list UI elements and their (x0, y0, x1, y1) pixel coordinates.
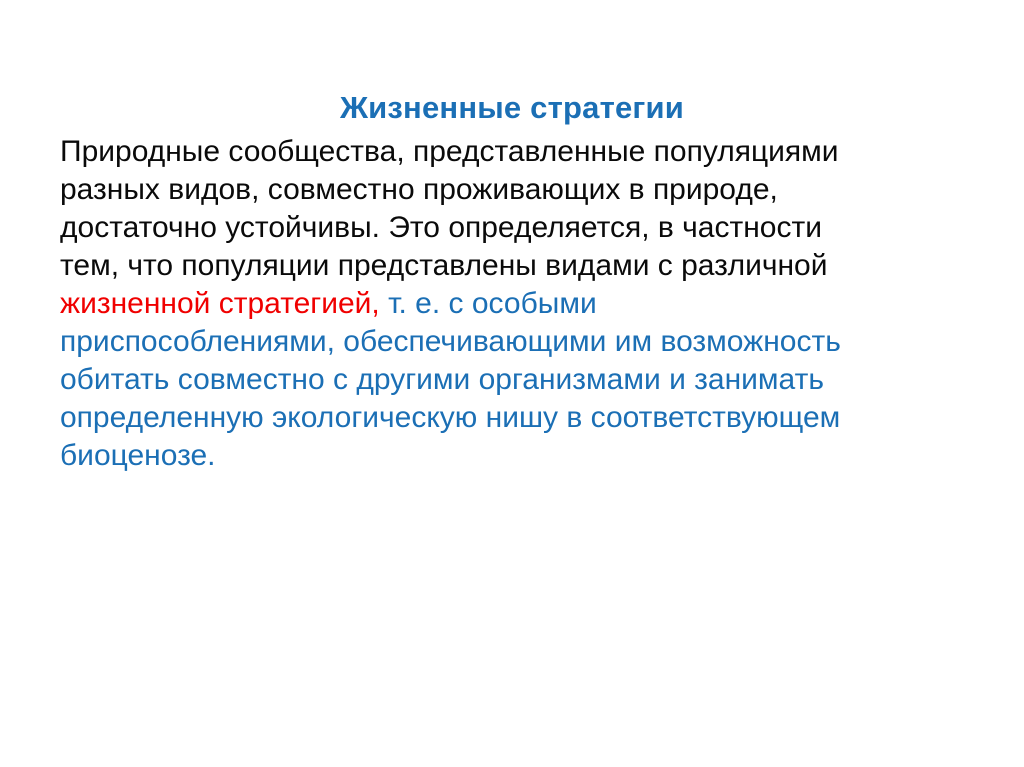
body-text-line: обитать совместно с другими организмами … (60, 361, 990, 399)
body-text-line: биоценозе. (60, 437, 990, 475)
text-segment-blue: биоценозе. (60, 439, 216, 472)
text-segment-blue: обитать совместно с другими организмами … (60, 363, 824, 396)
text-segment-black: достаточно устойчивы. Это определяется, … (60, 211, 822, 244)
text-segment-red: жизненной стратегией, (60, 287, 380, 320)
slide-body-text: Природные сообщества, представленные поп… (60, 133, 990, 475)
body-text-line: приспособлениями, обеспечивающими им воз… (60, 323, 990, 361)
body-text-line: разных видов, совместно проживающих в пр… (60, 171, 990, 209)
text-segment-blue: т. е. с особыми (380, 287, 597, 320)
body-text-line: достаточно устойчивы. Это определяется, … (60, 209, 990, 247)
body-text-line: Природные сообщества, представленные поп… (60, 133, 990, 171)
page-title: Жизненные стратегии (0, 89, 1024, 127)
text-segment-black: разных видов, совместно проживающих в пр… (60, 173, 778, 206)
text-segment-blue: определенную экологическую нишу в соотве… (60, 401, 840, 434)
body-text-line: жизненной стратегией, т. е. с особыми (60, 285, 990, 323)
text-segment-black: Природные сообщества, представленные поп… (60, 135, 839, 168)
text-segment-blue: приспособлениями, обеспечивающими им воз… (60, 325, 841, 358)
presentation-slide: Жизненные стратегии Природные сообщества… (0, 0, 1024, 767)
text-segment-black: тем, что популяции представлены видами с… (60, 249, 827, 282)
body-text-line: тем, что популяции представлены видами с… (60, 247, 990, 285)
body-text-line: определенную экологическую нишу в соотве… (60, 399, 990, 437)
